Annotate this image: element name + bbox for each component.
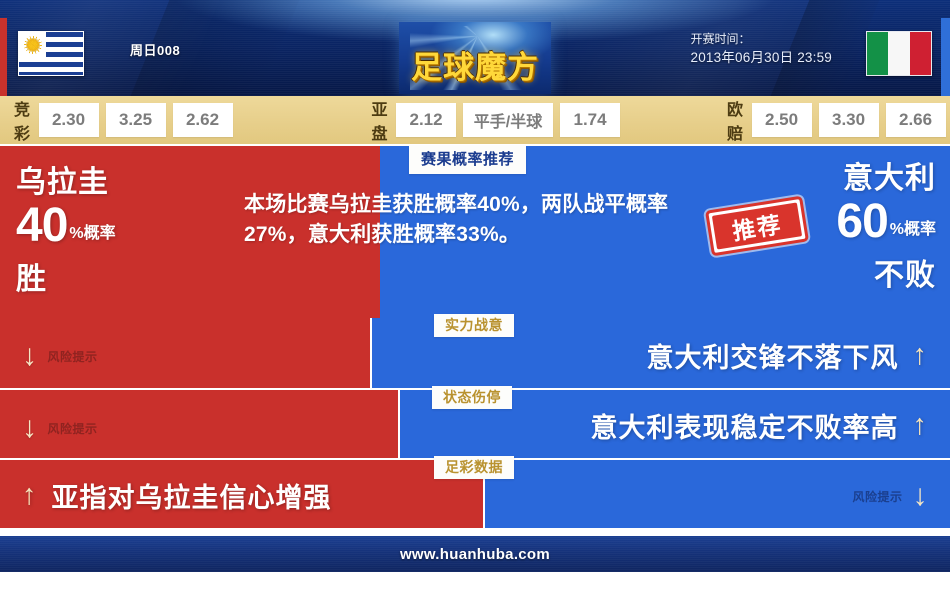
logo-text: 足球魔方: [399, 42, 551, 87]
odds-value[interactable]: 2.66: [886, 103, 946, 137]
arrow-up-icon: ↑: [22, 481, 38, 510]
odds-handicap[interactable]: 平手/半球: [463, 103, 553, 137]
section-tag-strength: 实力战意: [434, 314, 514, 337]
arrow-down-icon: ↓: [22, 344, 38, 368]
odds-value[interactable]: 2.30: [39, 103, 99, 137]
odds-group-oupei: 欧赔 2.50 3.30 2.66: [727, 96, 950, 144]
away-probability-unit: %概率: [890, 222, 936, 238]
odds-value[interactable]: 2.50: [752, 103, 812, 137]
header-red-accent: [0, 18, 7, 96]
row2-risk-label: 风险提示: [48, 420, 98, 437]
arrow-up-icon: ↑: [913, 411, 929, 440]
arrow-down-icon: ↓: [913, 484, 929, 508]
match-preview-card: 周日008 足球魔方 开赛时间： 2013年06月30日 23:59 竞彩 2.…: [0, 0, 950, 594]
arrow-up-icon: ↑: [913, 341, 929, 370]
odds-group-label: 竞彩: [14, 96, 31, 144]
flag-band-green: [867, 32, 888, 75]
match-number: 周日008: [130, 40, 180, 59]
row3-risk-note: 风险提示 ↓: [852, 484, 928, 508]
probability-summary: 本场比赛乌拉圭获胜概率40%，两队战平概率27%，意大利获胜概率33%。: [244, 190, 684, 250]
home-probability-unit: %概率: [69, 226, 115, 242]
odds-value[interactable]: 2.12: [396, 103, 456, 137]
away-team-name: 意大利: [836, 162, 936, 196]
section-tag-form: 状态伤停: [432, 386, 512, 409]
home-outcome: 胜: [16, 254, 116, 298]
odds-value[interactable]: 3.30: [819, 103, 879, 137]
row1-highlight: 意大利交锋不落下风 ↑: [647, 336, 929, 375]
arrow-down-icon: ↓: [22, 416, 38, 440]
away-probability-value: 60: [836, 198, 887, 246]
uruguay-flag-icon: [18, 31, 84, 76]
row1-highlight-text: 意大利交锋不落下风: [647, 336, 899, 375]
recommend-stamp-text: 推荐: [712, 202, 802, 249]
row2-highlight-text: 意大利表现稳定不败率高: [591, 406, 899, 445]
odds-group-jingcai: 竞彩 2.30 3.25 2.62: [14, 96, 240, 144]
italy-flag-icon: [866, 31, 932, 76]
odds-bar: 竞彩 2.30 3.25 2.62 亚盘 2.12 平手/半球 1.74 欧赔 …: [0, 96, 950, 144]
odds-value[interactable]: 2.62: [173, 103, 233, 137]
site-url[interactable]: www.huanhuba.com: [400, 546, 550, 563]
sun-of-may-icon: [27, 39, 39, 51]
section-tag-betting: 足彩数据: [434, 456, 514, 479]
odds-value[interactable]: 1.74: [560, 103, 620, 137]
home-team-name: 乌拉圭: [16, 166, 116, 200]
home-probability-value: 40: [16, 202, 67, 250]
header: 周日008 足球魔方 开赛时间： 2013年06月30日 23:59: [0, 0, 950, 96]
odds-group-yapan: 亚盘 2.12 平手/半球 1.74: [372, 96, 628, 144]
away-prediction: 意大利 60 %概率 不败: [836, 162, 936, 294]
site-logo: 足球魔方: [399, 22, 551, 94]
kickoff-value: 2013年06月30日 23:59: [691, 48, 833, 68]
odds-value[interactable]: 3.25: [106, 103, 166, 137]
odds-group-label: 欧赔: [727, 96, 744, 144]
away-probability: 60 %概率: [836, 198, 936, 246]
insight-rows: ↓ 风险提示 意大利交锋不落下风 ↑ ↓ 风险提示 意大利表现稳定不败率高 ↑: [0, 318, 950, 536]
row2-risk-note: ↓ 风险提示: [22, 416, 98, 440]
home-probability: 40 %概率: [16, 202, 116, 250]
probability-panel: 乌拉圭 40 %概率 胜 本场比赛乌拉圭获胜概率40%，两队战平概率27%，意大…: [0, 146, 950, 318]
row3-risk-label: 风险提示: [852, 488, 902, 505]
flag-band-white: [888, 32, 909, 75]
odds-group-label: 亚盘: [372, 96, 389, 144]
footer: www.huanhuba.com: [0, 536, 950, 572]
row1-risk-label: 风险提示: [48, 348, 98, 365]
flag-band-red: [910, 32, 931, 75]
away-outcome: 不败: [836, 250, 936, 294]
row3-highlight: ↑ 亚指对乌拉圭信心增强: [22, 476, 332, 515]
home-prediction: 乌拉圭 40 %概率 胜: [16, 166, 116, 298]
kickoff-block: 开赛时间： 2013年06月30日 23:59: [691, 31, 833, 68]
row2-highlight: 意大利表现稳定不败率高 ↑: [591, 406, 929, 445]
kickoff-label: 开赛时间：: [691, 31, 833, 48]
header-blue-accent: [941, 18, 950, 96]
row3-highlight-text: 亚指对乌拉圭信心增强: [52, 476, 332, 515]
row1-risk-note: ↓ 风险提示: [22, 344, 98, 368]
section-tag-probability: 赛果概率推荐: [409, 146, 526, 174]
bottom-spacer: [0, 572, 950, 594]
